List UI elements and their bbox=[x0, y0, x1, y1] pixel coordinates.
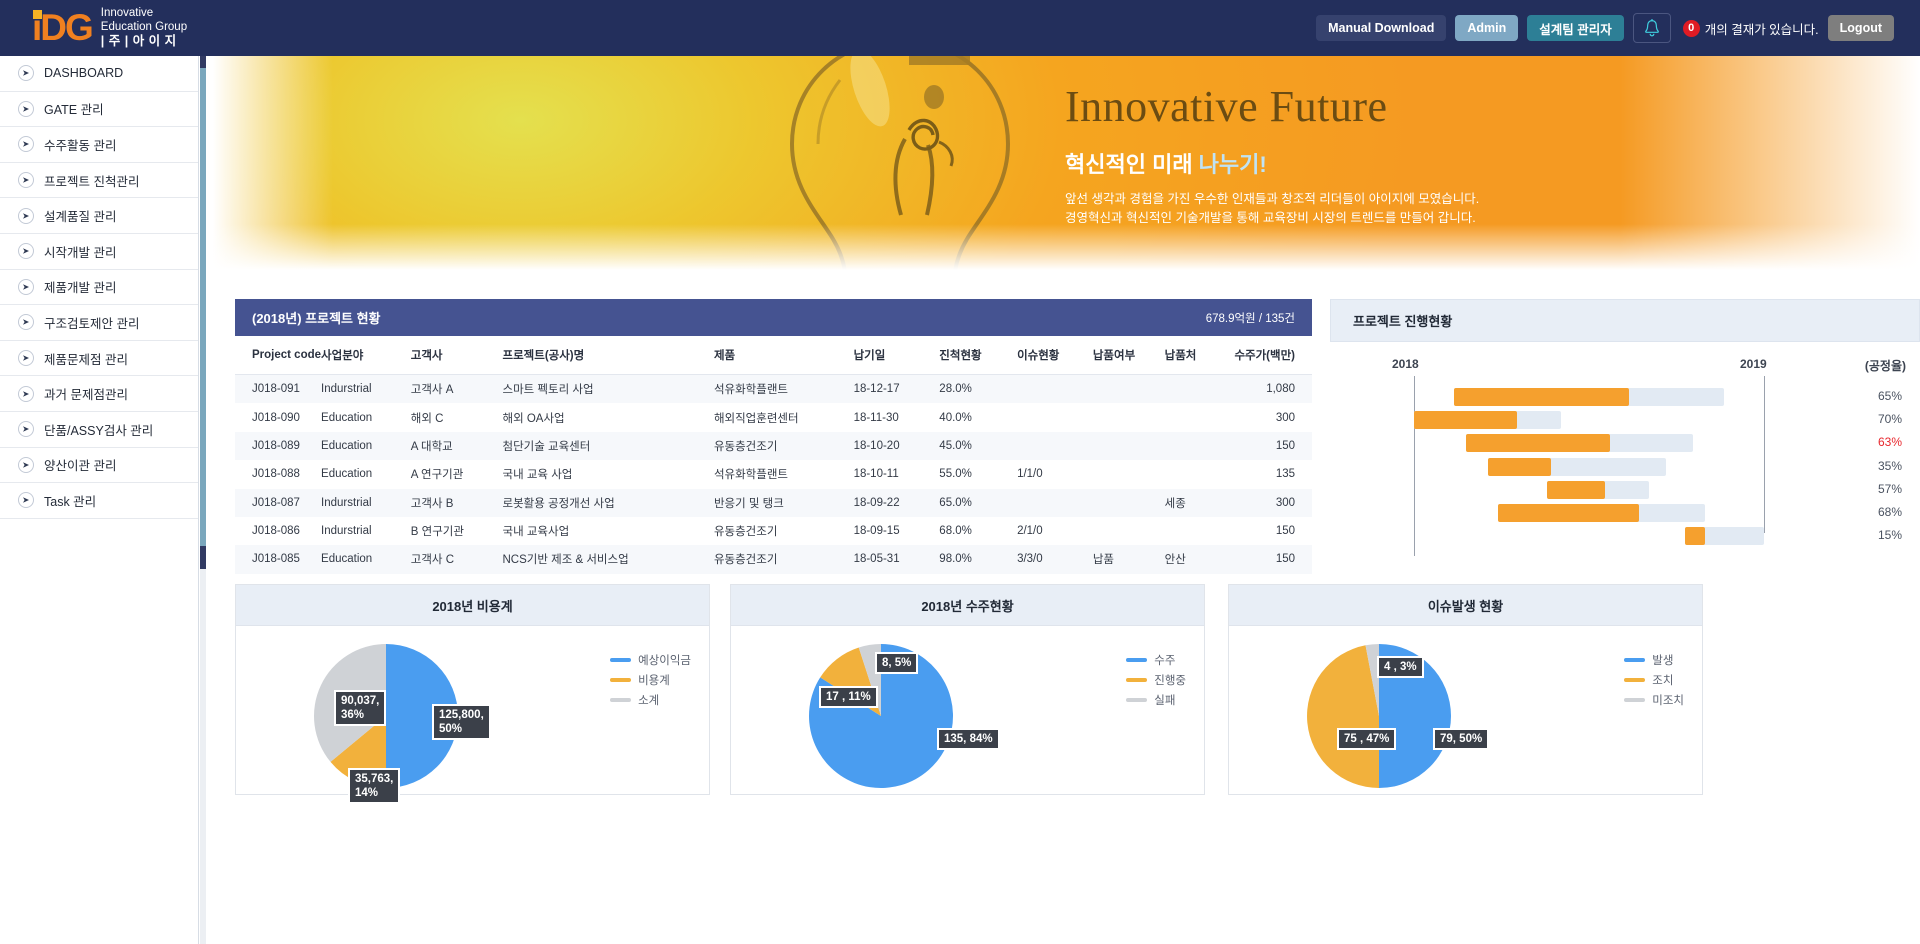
cell-issue bbox=[1017, 375, 1093, 404]
sidebar-item-label: DASHBOARD bbox=[44, 66, 123, 80]
cell-progress: 98.0% bbox=[939, 545, 1017, 573]
pie-legend: 예상이익금비용계소계 bbox=[610, 652, 691, 712]
sidebar-item-10[interactable]: 단품/ASSY검사 관리 bbox=[0, 412, 198, 448]
cell-dest bbox=[1165, 517, 1235, 545]
column-header-4: 제품 bbox=[714, 336, 854, 375]
chevron-right-icon bbox=[18, 492, 34, 508]
cell-proj: 국내 교육사업 bbox=[503, 517, 714, 545]
gantt-fill-1 bbox=[1414, 411, 1517, 429]
cell-code: J018-089 bbox=[235, 432, 321, 460]
pie-cost-header: 2018년 비용계 bbox=[236, 585, 709, 626]
scrollbar-cap-top bbox=[200, 56, 206, 68]
pie-issues-body: 79, 50%75 , 47%4 , 3%발생조치미조치 bbox=[1229, 626, 1702, 794]
pie-data-label-2: 90,037, 36% bbox=[334, 690, 386, 726]
table-row[interactable]: J018-088EducationA 연구기관국내 교육 사업석유화학플랜트18… bbox=[235, 460, 1312, 488]
sidebar-item-9[interactable]: 과거 문제점관리 bbox=[0, 376, 198, 412]
legend-label: 진행중 bbox=[1154, 672, 1186, 688]
cell-proj: 국내 교육 사업 bbox=[503, 460, 714, 488]
cell-amount: 150 bbox=[1234, 432, 1312, 460]
table-row[interactable]: J018-087Indurstrial고객사 B로봇활용 공정개선 사업반응기 … bbox=[235, 489, 1312, 517]
cell-proj: NCS기반 제조 & 서비스업 bbox=[503, 545, 714, 573]
cell-due: 18-09-22 bbox=[854, 489, 940, 517]
cell-biz: Education bbox=[321, 403, 411, 431]
cell-delivered bbox=[1093, 403, 1165, 431]
cell-delivered: 납품 bbox=[1093, 545, 1165, 573]
cell-cust: 고객사 C bbox=[411, 545, 503, 573]
table-row[interactable]: J018-089EducationA 대학교첨단기술 교육센터유동층건조기18-… bbox=[235, 432, 1312, 460]
table-row[interactable]: J018-085Education고객사 CNCS기반 제조 & 서비스업유동층… bbox=[235, 545, 1312, 573]
pie-data-label-2: 8, 5% bbox=[875, 652, 918, 674]
cell-amount: 135 bbox=[1234, 460, 1312, 488]
manual-download-button[interactable]: Manual Download bbox=[1316, 15, 1446, 41]
legend-swatch-icon bbox=[610, 698, 631, 702]
gantt-percent-1: 70% bbox=[1878, 412, 1902, 426]
chevron-right-icon bbox=[18, 350, 34, 366]
gantt-fill-2 bbox=[1466, 434, 1610, 452]
pie-slice-1[interactable] bbox=[1307, 645, 1379, 788]
cell-issue: 2/1/0 bbox=[1017, 517, 1093, 545]
cell-prod: 해외직업훈련센터 bbox=[714, 403, 854, 431]
gantt-track-0 bbox=[1454, 388, 1724, 406]
gantt-axis-2018: 2018 bbox=[1392, 357, 1419, 371]
admin-button[interactable]: Admin bbox=[1455, 15, 1518, 41]
logo-line-2: Education Group bbox=[101, 21, 187, 35]
cell-code: J018-087 bbox=[235, 489, 321, 517]
gantt-rate-header: (공정율) bbox=[1865, 357, 1906, 374]
cell-proj: 해외 OA사업 bbox=[503, 403, 714, 431]
pie-cost-title: 2018년 비용계 bbox=[432, 596, 512, 615]
cell-cust: A 연구기관 bbox=[411, 460, 503, 488]
hero-fade-bottom bbox=[213, 224, 1920, 270]
project-status-panel: (2018년) 프로젝트 현황 678.9억원 / 135건 Project c… bbox=[235, 299, 1312, 549]
brand-logo[interactable]: iDG Innovative Education Group | 주 | 아 이… bbox=[32, 7, 187, 49]
cell-due: 18-09-15 bbox=[854, 517, 940, 545]
cell-biz: Indurstrial bbox=[321, 375, 411, 404]
cell-cust: B 연구기관 bbox=[411, 517, 503, 545]
cell-dest: 안산 bbox=[1165, 545, 1235, 573]
gantt-panel-header: 프로젝트 진행현황 bbox=[1330, 299, 1920, 342]
team-manager-button[interactable]: 설계팀 관리자 bbox=[1527, 15, 1623, 41]
logo-wordmark: Innovative Education Group | 주 | 아 이 지 bbox=[101, 7, 187, 49]
sidebar-item-11[interactable]: 양산이관 관리 bbox=[0, 448, 198, 484]
cell-due: 18-10-20 bbox=[854, 432, 940, 460]
column-header-7: 이슈현황 bbox=[1017, 336, 1093, 375]
notification-text: 0 개의 결재가 있습니다. bbox=[1683, 19, 1819, 38]
gantt-fill-4 bbox=[1547, 481, 1605, 499]
legend-swatch-icon bbox=[1624, 658, 1645, 662]
cell-due: 18-11-30 bbox=[854, 403, 940, 431]
gantt-track-2 bbox=[1466, 434, 1694, 452]
pie-panel-cost: 2018년 비용계 125,800, 50%35,763, 14%90,037,… bbox=[235, 584, 710, 795]
hero-subtitle-main: 혁신적인 미래 bbox=[1065, 152, 1199, 177]
pie-data-label-0: 125,800, 50% bbox=[432, 704, 491, 740]
app-header: iDG Innovative Education Group | 주 | 아 이… bbox=[0, 0, 1920, 56]
sidebar-item-1[interactable]: GATE 관리 bbox=[0, 92, 198, 128]
sidebar-item-label: 과거 문제점관리 bbox=[44, 384, 128, 403]
pie-orders-title: 2018년 수주현황 bbox=[921, 596, 1013, 615]
legend-label: 미조치 bbox=[1652, 692, 1684, 708]
hero-banner: Innovative Future 혁신적인 미래 나누기! 앞선 생각과 경험… bbox=[213, 56, 1920, 270]
pie-issues-header: 이슈발생 현황 bbox=[1229, 585, 1702, 626]
cell-issue: 1/1/0 bbox=[1017, 460, 1093, 488]
sidebar-nav: DASHBOARDGATE 관리수주활동 관리프로젝트 진척관리설계품질 관리시… bbox=[0, 56, 199, 944]
column-header-0: Project code bbox=[235, 336, 321, 375]
gantt-percent-5: 68% bbox=[1878, 505, 1902, 519]
hero-subtitle-accent: 나누기! bbox=[1199, 152, 1267, 177]
gantt-percent-0: 65% bbox=[1878, 389, 1902, 403]
table-row[interactable]: J018-091Indurstrial고객사 A스마트 펙토리 사업석유화학플랜… bbox=[235, 375, 1312, 404]
sidebar-item-label: 제품문제점 관리 bbox=[44, 349, 128, 368]
cell-biz: Education bbox=[321, 545, 411, 573]
sidebar-item-8[interactable]: 제품문제점 관리 bbox=[0, 341, 198, 377]
gantt-percent-3: 35% bbox=[1878, 459, 1902, 473]
legend-item-0[interactable]: 예상이익금 bbox=[610, 652, 691, 668]
project-table: Project code사업분야고객사프로젝트(공사)명제품납기일진척현황이슈현… bbox=[235, 336, 1312, 574]
pie-data-label-1: 17 , 11% bbox=[819, 686, 878, 708]
chevron-right-icon bbox=[18, 421, 34, 437]
sidebar-item-label: 프로젝트 진척관리 bbox=[44, 171, 139, 190]
gantt-fill-5 bbox=[1498, 504, 1639, 522]
cell-biz: Indurstrial bbox=[321, 489, 411, 517]
gantt-track-5 bbox=[1498, 504, 1705, 522]
cell-progress: 68.0% bbox=[939, 517, 1017, 545]
column-header-10: 수주가(백만) bbox=[1234, 336, 1312, 375]
column-header-1: 사업분야 bbox=[321, 336, 411, 375]
chevron-right-icon bbox=[18, 172, 34, 188]
gantt-percent-2: 63% bbox=[1878, 435, 1902, 449]
sidebar-item-12[interactable]: Task 관리 bbox=[0, 483, 198, 519]
legend-swatch-icon bbox=[1126, 658, 1147, 662]
sidebar-item-label: 양산이관 관리 bbox=[44, 455, 116, 474]
pie-issues-title: 이슈발생 현황 bbox=[1428, 596, 1503, 615]
scrollbar-thumb[interactable] bbox=[200, 68, 206, 546]
sidebar-item-6[interactable]: 제품개발 관리 bbox=[0, 270, 198, 306]
cell-progress: 28.0% bbox=[939, 375, 1017, 404]
pie-data-label-1: 75 , 47% bbox=[1337, 728, 1396, 750]
cell-dest bbox=[1165, 403, 1235, 431]
cell-issue bbox=[1017, 489, 1093, 517]
cell-dest bbox=[1165, 375, 1235, 404]
cell-delivered bbox=[1093, 517, 1165, 545]
cell-dest bbox=[1165, 460, 1235, 488]
cell-prod: 석유화학플랜트 bbox=[714, 460, 854, 488]
gantt-percent-6: 15% bbox=[1878, 528, 1902, 542]
gantt-fill-0 bbox=[1454, 388, 1629, 406]
legend-label: 실패 bbox=[1154, 692, 1175, 708]
sidebar-item-label: GATE 관리 bbox=[44, 99, 104, 118]
chevron-right-icon bbox=[18, 136, 34, 152]
cell-biz: Education bbox=[321, 460, 411, 488]
hero-desc-line-1: 앞선 생각과 경험을 가진 우수한 인재들과 창조적 리더들이 아이지에 모였습… bbox=[1065, 190, 1479, 209]
gantt-panel: 프로젝트 진행현황 20182019(공정율)65%70%63%35%57%68… bbox=[1330, 299, 1920, 549]
logo-line-1: Innovative bbox=[101, 7, 187, 21]
cell-code: J018-091 bbox=[235, 375, 321, 404]
cell-proj: 로봇활용 공정개선 사업 bbox=[503, 489, 714, 517]
cell-due: 18-05-31 bbox=[854, 545, 940, 573]
legend-label: 소계 bbox=[638, 692, 659, 708]
cell-proj: 스마트 펙토리 사업 bbox=[503, 375, 714, 404]
pie-panel-orders: 2018년 수주현황 135, 84%17 , 11%8, 5%수주진행중실패 bbox=[730, 584, 1205, 795]
pie-data-label-0: 135, 84% bbox=[937, 728, 1000, 750]
cell-prod: 유동층건조기 bbox=[714, 432, 854, 460]
cell-progress: 45.0% bbox=[939, 432, 1017, 460]
legend-item-1[interactable]: 진행중 bbox=[1126, 672, 1186, 688]
hero-desc-line-2: 경영혁신과 혁신적인 기술개발을 통해 교육장비 시장의 트렌드를 만들어 갑니… bbox=[1065, 209, 1479, 228]
table-row[interactable]: J018-086IndurstrialB 연구기관국내 교육사업유동층건조기18… bbox=[235, 517, 1312, 545]
project-panel-summary: 678.9억원 / 135건 bbox=[1206, 310, 1295, 326]
cell-amount: 150 bbox=[1234, 517, 1312, 545]
gantt-fill-3 bbox=[1488, 458, 1551, 476]
chevron-right-icon bbox=[18, 314, 34, 330]
cell-code: J018-088 bbox=[235, 460, 321, 488]
sidebar-item-5[interactable]: 시작개발 관리 bbox=[0, 234, 198, 270]
legend-item-1[interactable]: 조치 bbox=[1624, 672, 1684, 688]
cell-prod: 반응기 및 탱크 bbox=[714, 489, 854, 517]
gantt-track-1 bbox=[1414, 411, 1561, 429]
cell-biz: Education bbox=[321, 432, 411, 460]
chevron-right-icon bbox=[18, 65, 34, 81]
cell-delivered bbox=[1093, 432, 1165, 460]
legend-swatch-icon bbox=[610, 678, 631, 682]
legend-label: 조치 bbox=[1652, 672, 1673, 688]
gantt-track-6 bbox=[1685, 527, 1764, 545]
legend-swatch-icon bbox=[1126, 698, 1147, 702]
gantt-panel-title: 프로젝트 진행현황 bbox=[1353, 311, 1452, 330]
project-panel-title: (2018년) 프로젝트 현황 bbox=[252, 308, 381, 327]
cell-issue bbox=[1017, 403, 1093, 431]
cell-cust: 고객사 A bbox=[411, 375, 503, 404]
cell-due: 18-10-11 bbox=[854, 460, 940, 488]
sidebar-item-label: 구조검토제안 관리 bbox=[44, 313, 139, 332]
sidebar-item-label: 제품개발 관리 bbox=[44, 277, 116, 296]
cell-issue: 3/3/0 bbox=[1017, 545, 1093, 573]
cell-dest: 세종 bbox=[1165, 489, 1235, 517]
cell-progress: 55.0% bbox=[939, 460, 1017, 488]
column-header-5: 납기일 bbox=[854, 336, 940, 375]
column-header-3: 프로젝트(공사)명 bbox=[503, 336, 714, 375]
legend-item-2[interactable]: 미조치 bbox=[1624, 692, 1684, 708]
cell-prod: 석유화학플랜트 bbox=[714, 375, 854, 404]
cell-cust: 해외 C bbox=[411, 403, 503, 431]
project-table-body: J018-091Indurstrial고객사 A스마트 펙토리 사업석유화학플랜… bbox=[235, 375, 1312, 574]
pie-orders-body: 135, 84%17 , 11%8, 5%수주진행중실패 bbox=[731, 626, 1204, 794]
cell-dest bbox=[1165, 432, 1235, 460]
cell-cust: 고객사 B bbox=[411, 489, 503, 517]
legend-label: 수주 bbox=[1154, 652, 1175, 668]
sidebar-item-4[interactable]: 설계품질 관리 bbox=[0, 198, 198, 234]
legend-label: 발생 bbox=[1652, 652, 1673, 668]
legend-swatch-icon bbox=[1624, 698, 1645, 702]
chevron-right-icon bbox=[18, 279, 34, 295]
cell-progress: 40.0% bbox=[939, 403, 1017, 431]
hero-title: Innovative Future bbox=[1065, 82, 1479, 133]
sidebar-scrollbar[interactable] bbox=[200, 56, 206, 944]
legend-label: 비용계 bbox=[638, 672, 670, 688]
logo-line-3: | 주 | 아 이 지 bbox=[101, 34, 187, 49]
chevron-right-icon bbox=[18, 101, 34, 117]
pie-legend: 수주진행중실패 bbox=[1126, 652, 1186, 712]
scrollbar-cap-bottom bbox=[200, 546, 206, 569]
cell-due: 18-12-17 bbox=[854, 375, 940, 404]
sidebar-item-2[interactable]: 수주활동 관리 bbox=[0, 127, 198, 163]
cell-amount: 300 bbox=[1234, 489, 1312, 517]
gantt-axis-2019: 2019 bbox=[1740, 357, 1767, 371]
gantt-chart: 20182019(공정율)65%70%63%35%57%68%15% bbox=[1330, 342, 1920, 549]
pie-data-label-0: 79, 50% bbox=[1433, 728, 1489, 750]
bell-icon[interactable] bbox=[1633, 13, 1671, 43]
cell-amount: 150 bbox=[1234, 545, 1312, 573]
legend-item-0[interactable]: 수주 bbox=[1126, 652, 1186, 668]
project-panel-header: (2018년) 프로젝트 현황 678.9억원 / 135건 bbox=[235, 299, 1312, 336]
legend-item-2[interactable]: 소계 bbox=[610, 692, 691, 708]
gantt-track-3 bbox=[1488, 458, 1667, 476]
column-header-2: 고객사 bbox=[411, 336, 503, 375]
table-row[interactable]: J018-090Education해외 C해외 OA사업해외직업훈련센터18-1… bbox=[235, 403, 1312, 431]
sidebar-item-label: 단품/ASSY검사 관리 bbox=[44, 420, 153, 439]
cell-cust: A 대학교 bbox=[411, 432, 503, 460]
pie-cost-body: 125,800, 50%35,763, 14%90,037, 36%예상이익금비… bbox=[236, 626, 709, 794]
logo-mark-text: iDG bbox=[32, 9, 92, 46]
cell-code: J018-086 bbox=[235, 517, 321, 545]
gantt-percent-4: 57% bbox=[1878, 482, 1902, 496]
cell-delivered bbox=[1093, 460, 1165, 488]
pie-panel-issues: 이슈발생 현황 79, 50%75 , 47%4 , 3%발생조치미조치 bbox=[1228, 584, 1703, 795]
cell-amount: 1,080 bbox=[1234, 375, 1312, 404]
cell-progress: 65.0% bbox=[939, 489, 1017, 517]
legend-swatch-icon bbox=[1624, 678, 1645, 682]
gantt-fill-6 bbox=[1685, 527, 1705, 545]
pie-data-label-2: 4 , 3% bbox=[1377, 656, 1424, 678]
cell-amount: 300 bbox=[1234, 403, 1312, 431]
header-actions: Manual Download Admin 설계팀 관리자 0 개의 결재가 있… bbox=[1316, 13, 1894, 43]
sidebar-item-label: 설계품질 관리 bbox=[44, 206, 116, 225]
cell-biz: Indurstrial bbox=[321, 517, 411, 545]
cell-proj: 첨단기술 교육센터 bbox=[503, 432, 714, 460]
legend-item-0[interactable]: 발생 bbox=[1624, 652, 1684, 668]
pie-legend: 발생조치미조치 bbox=[1624, 652, 1684, 712]
notification-message: 개의 결재가 있습니다. bbox=[1705, 19, 1819, 38]
cell-issue bbox=[1017, 432, 1093, 460]
legend-swatch-icon bbox=[1126, 678, 1147, 682]
column-header-9: 납품처 bbox=[1165, 336, 1235, 375]
logout-button[interactable]: Logout bbox=[1828, 15, 1894, 41]
chevron-right-icon bbox=[18, 208, 34, 224]
notification-group[interactable]: 0 개의 결재가 있습니다. bbox=[1633, 13, 1819, 43]
sidebar-item-3[interactable]: 프로젝트 진척관리 bbox=[0, 163, 198, 199]
column-header-6: 진척현황 bbox=[939, 336, 1017, 375]
legend-label: 예상이익금 bbox=[638, 652, 691, 668]
hero-copy: Innovative Future 혁신적인 미래 나누기! 앞선 생각과 경험… bbox=[1065, 82, 1479, 228]
hero-subtitle: 혁신적인 미래 나누기! bbox=[1065, 147, 1479, 179]
logo-dot-icon bbox=[33, 10, 42, 19]
column-header-8: 납품여부 bbox=[1093, 336, 1165, 375]
gantt-track-4 bbox=[1547, 481, 1649, 499]
legend-item-2[interactable]: 실패 bbox=[1126, 692, 1186, 708]
gantt-gridline-2018 bbox=[1414, 376, 1415, 556]
cell-code: J018-090 bbox=[235, 403, 321, 431]
cell-delivered bbox=[1093, 375, 1165, 404]
chevron-right-icon bbox=[18, 457, 34, 473]
pie-orders-header: 2018년 수주현황 bbox=[731, 585, 1204, 626]
cell-prod: 유동층건조기 bbox=[714, 545, 854, 573]
notification-count-badge: 0 bbox=[1683, 20, 1700, 37]
cell-code: J018-085 bbox=[235, 545, 321, 573]
hero-description: 앞선 생각과 경험을 가진 우수한 인재들과 창조적 리더들이 아이지에 모였습… bbox=[1065, 190, 1479, 228]
gantt-gridline-2019 bbox=[1764, 376, 1765, 533]
sidebar-item-7[interactable]: 구조검토제안 관리 bbox=[0, 305, 198, 341]
legend-item-1[interactable]: 비용계 bbox=[610, 672, 691, 688]
sidebar-item-label: Task 관리 bbox=[44, 491, 96, 510]
sidebar-item-label: 수주활동 관리 bbox=[44, 135, 116, 154]
legend-swatch-icon bbox=[610, 658, 631, 662]
cell-delivered bbox=[1093, 489, 1165, 517]
chevron-right-icon bbox=[18, 243, 34, 259]
sidebar-item-0[interactable]: DASHBOARD bbox=[0, 56, 198, 92]
project-table-header-row: Project code사업분야고객사프로젝트(공사)명제품납기일진척현황이슈현… bbox=[235, 336, 1312, 375]
cell-prod: 유동층건조기 bbox=[714, 517, 854, 545]
sidebar-item-label: 시작개발 관리 bbox=[44, 242, 116, 261]
chevron-right-icon bbox=[18, 386, 34, 402]
pie-data-label-1: 35,763, 14% bbox=[348, 768, 400, 804]
